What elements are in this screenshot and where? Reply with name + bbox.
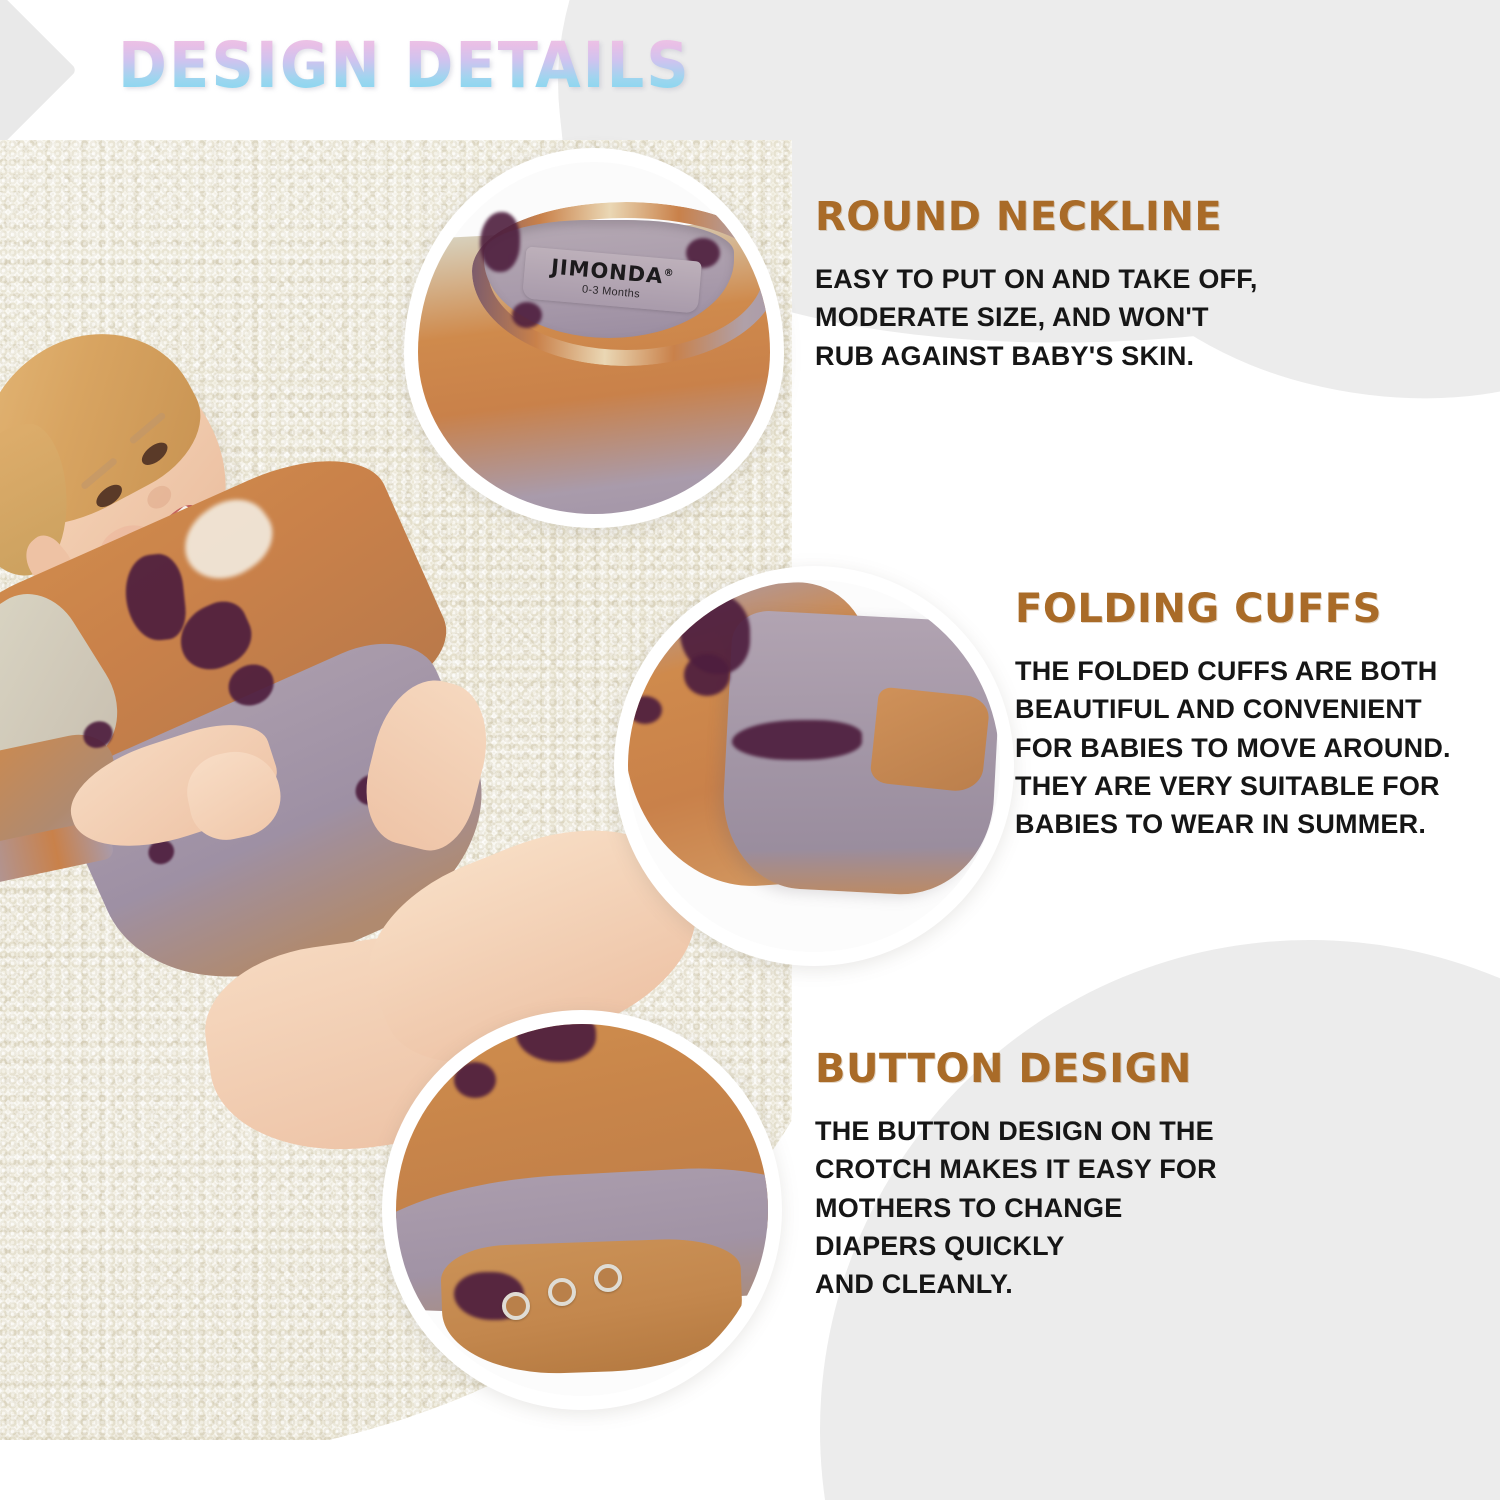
tie-dye-spot	[628, 696, 662, 724]
feature-heading-button-design: BUTTON DESIGN	[815, 1048, 1335, 1090]
inset-photo-folding-cuffs	[614, 566, 1014, 966]
feature-heading-folding-cuffs: FOLDING CUFFS	[1015, 588, 1500, 630]
tie-dye-spot	[732, 720, 862, 760]
infographic-canvas: DESIGN DETAILS	[0, 0, 1500, 1500]
inset-photo-button-design-content	[396, 1024, 768, 1396]
feature-body-round-neckline: EASY TO PUT ON AND TAKE OFF, MODERATE SI…	[815, 260, 1375, 375]
tie-dye-spot	[480, 212, 520, 272]
feature-block-round-neckline: ROUND NECKLINE EASY TO PUT ON AND TAKE O…	[815, 196, 1375, 375]
snap-button-icon	[594, 1264, 622, 1292]
inset-photo-folding-cuffs-content	[628, 580, 1000, 952]
chevron-right-icon	[0, 0, 77, 149]
tie-dye-spot	[454, 1062, 496, 1098]
cuff-hem	[869, 686, 990, 793]
feature-body-folding-cuffs: THE FOLDED CUFFS ARE BOTH BEAUTIFUL AND …	[1015, 652, 1500, 844]
tie-dye-spot	[684, 654, 730, 696]
inset-photo-button-design	[382, 1010, 782, 1410]
page-title-text: DESIGN DETAILS	[118, 34, 691, 97]
feature-block-button-design: BUTTON DESIGN THE BUTTON DESIGN ON THE C…	[815, 1048, 1335, 1304]
feature-heading-round-neckline: ROUND NECKLINE	[815, 196, 1375, 238]
feature-block-folding-cuffs: FOLDING CUFFS THE FOLDED CUFFS ARE BOTH …	[1015, 588, 1500, 844]
baby-nose	[143, 481, 176, 513]
inset-photo-round-neckline-content: JIMONDA® 0-3 Months	[418, 162, 770, 514]
snap-button-icon	[548, 1278, 576, 1306]
registered-trademark-icon: ®	[663, 267, 675, 279]
feature-body-button-design: THE BUTTON DESIGN ON THE CROTCH MAKES IT…	[815, 1112, 1335, 1304]
page-title: DESIGN DETAILS	[118, 34, 669, 97]
tie-dye-spot	[512, 302, 542, 328]
snap-button-icon	[502, 1292, 530, 1320]
